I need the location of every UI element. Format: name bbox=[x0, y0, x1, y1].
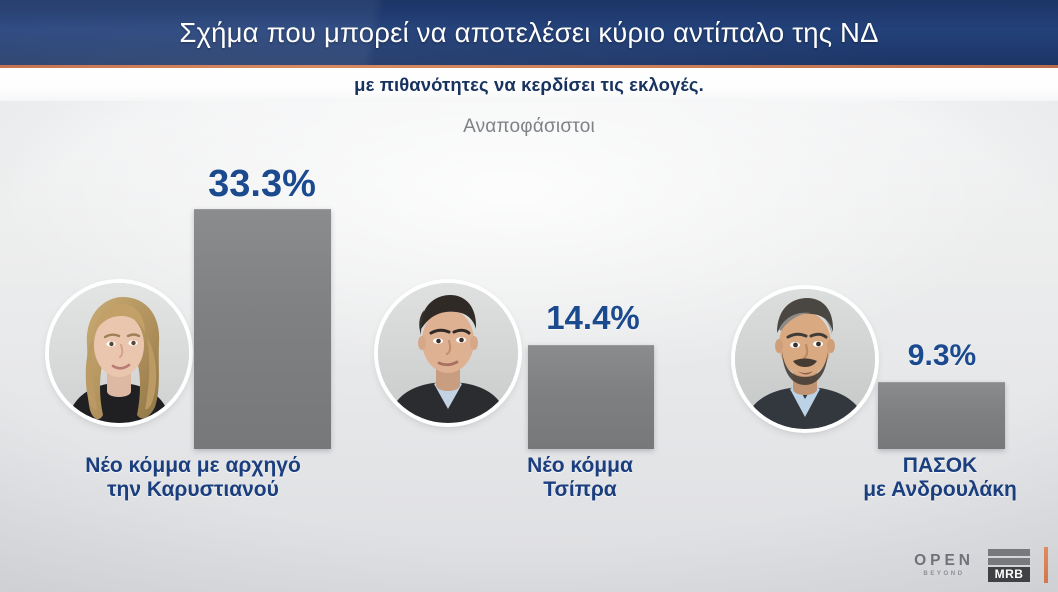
portrait-androulakis bbox=[735, 289, 875, 429]
footer-logos: OPEN BEYOND MRB bbox=[914, 547, 1048, 583]
bar-2-caption-line2: Τσίπρα bbox=[420, 478, 740, 502]
bar-1-caption-line1: Νέο κόμμα με αρχηγό bbox=[28, 454, 358, 478]
bar-3 bbox=[878, 382, 1005, 449]
bar-1-caption-line2: την Καρυστιανού bbox=[28, 478, 358, 502]
bar-3-caption: ΠΑΣΟΚ με Ανδρουλάκη bbox=[780, 454, 1058, 503]
bar-2-caption-line1: Νέο κόμμα bbox=[420, 454, 740, 478]
bar-1 bbox=[194, 209, 331, 449]
portrait-tsipras bbox=[378, 283, 518, 423]
bar-3-caption-line2: με Ανδρουλάκη bbox=[780, 478, 1058, 502]
mrb-label: MRB bbox=[988, 567, 1030, 582]
header-band: Σχήμα που μπορεί να αποτελέσει κύριο αντ… bbox=[0, 0, 1058, 65]
mrb-bar-mid bbox=[988, 558, 1030, 565]
mrb-bar-top bbox=[988, 549, 1030, 556]
bar-3-caption-line1: ΠΑΣΟΚ bbox=[780, 454, 1058, 478]
bar-3-value: 9.3% bbox=[856, 339, 1028, 373]
mrb-logo: MRB bbox=[988, 549, 1030, 582]
portrait-karystianou bbox=[49, 283, 189, 423]
page-subtitle: με πιθανότητες να κερδίσει τις εκλογές. bbox=[354, 74, 704, 96]
open-beyond-logo: OPEN BEYOND bbox=[914, 553, 974, 578]
orange-accent-bar bbox=[1044, 547, 1048, 583]
undecided-label: Αναποφάσιστοι bbox=[0, 116, 1058, 138]
open-wordmark: OPEN bbox=[914, 553, 974, 569]
bar-2-caption: Νέο κόμμα Τσίπρα bbox=[420, 454, 740, 503]
subtitle-band: με πιθανότητες να κερδίσει τις εκλογές. bbox=[0, 68, 1058, 101]
open-tagline: BEYOND bbox=[923, 571, 964, 577]
page-title: Σχήμα που μπορεί να αποτελέσει κύριο αντ… bbox=[179, 17, 878, 49]
bar-2 bbox=[528, 345, 654, 449]
bar-1-value: 33.3% bbox=[164, 163, 360, 206]
bar-2-value: 14.4% bbox=[505, 299, 681, 337]
chart-stage: Αναποφάσιστοι bbox=[0, 101, 1058, 592]
bar-1-caption: Νέο κόμμα με αρχηγό την Καρυστιανού bbox=[28, 454, 358, 503]
